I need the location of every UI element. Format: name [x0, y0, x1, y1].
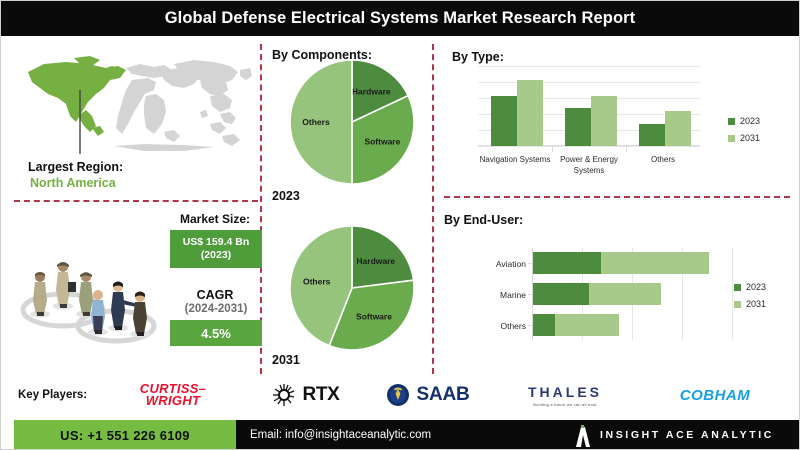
bar-segment-aviation-2023	[533, 252, 601, 274]
infographic-page: Global Defense Electrical Systems Market…	[0, 0, 800, 450]
logo-saab: SAAB	[368, 380, 488, 410]
legend-label: 2023	[740, 116, 760, 126]
people-illustration	[18, 238, 168, 346]
bar-others-2023	[639, 124, 665, 146]
section-heading-by-type: By Type:	[452, 50, 504, 64]
world-map	[14, 50, 254, 158]
key-players-label: Key Players:	[18, 389, 87, 401]
market-size-label: Market Size:	[172, 212, 258, 226]
pie-label-others: Others	[303, 276, 331, 286]
bar-row-others	[533, 314, 733, 336]
bar-row-marine	[533, 283, 733, 305]
thales-wordmark: THALES	[528, 384, 602, 400]
logo-cobham: COBHAM	[650, 380, 780, 410]
pie-label-software: Software	[364, 136, 400, 146]
pie-label-hardware: Hardware	[356, 256, 395, 266]
thales-tagline: Building a future we can all trust	[533, 402, 597, 407]
curtiss-wright-line2: WRIGHT	[140, 395, 206, 407]
cobham-wordmark: COBHAM	[680, 387, 751, 404]
header-bar: Global Defense Electrical Systems Market…	[30, 0, 770, 36]
axis-tick	[528, 263, 532, 264]
axis-tick	[528, 325, 532, 326]
footer-email-text: Email: info@insightaceanalytic.com	[250, 429, 431, 441]
market-size-value: US$ 159.4 Bn	[183, 236, 250, 249]
cagr-box: 4.5%	[170, 320, 262, 346]
pie-year-2023: 2023	[272, 189, 300, 203]
by-end-user-legend: 20232031	[734, 282, 766, 316]
logo-thales: THALES Building a future we can all trus…	[492, 380, 638, 410]
pie-label-hardware: Hardware	[352, 87, 391, 97]
bar-segment-others-2031	[555, 314, 619, 336]
saab-wordmark: SAAB	[416, 384, 469, 406]
legend-swatch	[728, 118, 735, 125]
map-north-america-highlight	[28, 56, 126, 136]
gridline	[478, 82, 700, 83]
bar-segment-marine-2031	[589, 283, 661, 305]
legend-item-2023: 2023	[728, 116, 760, 126]
cagr-years: (2024-2031)	[170, 303, 262, 315]
gridline	[478, 66, 700, 67]
bar-power-energy-systems-2031	[591, 96, 617, 146]
legend-item-2031: 2031	[734, 299, 766, 309]
bar-power-energy-systems-2023	[565, 108, 591, 146]
legend-swatch	[734, 301, 741, 308]
legend-swatch	[734, 284, 741, 291]
footer-brand: INSIGHT ACE ANALYTIC	[556, 420, 800, 450]
legend-item-2023: 2023	[734, 282, 766, 292]
largest-region-label: Largest Region:	[28, 160, 123, 174]
x-axis-label: Navigation Systems	[478, 154, 552, 165]
axis-tick	[528, 294, 532, 295]
gridline	[478, 146, 700, 147]
legend-label: 2031	[746, 299, 766, 309]
by-type-legend: 20232031	[728, 116, 760, 150]
bar-others-2031	[665, 111, 691, 146]
footer-phone[interactable]: US: +1 551 226 6109	[14, 420, 236, 450]
map-other-regions	[114, 60, 252, 151]
x-axis-label: Others	[626, 154, 700, 165]
y-axis-label: Others	[464, 321, 526, 331]
saab-crest-icon	[386, 383, 410, 407]
bar-row-aviation	[533, 252, 733, 274]
footer-phone-text: US: +1 551 226 6109	[60, 428, 190, 443]
y-axis-label: Aviation	[464, 259, 526, 269]
largest-region-value: North America	[30, 176, 116, 190]
rtx-wordmark: RTX	[302, 384, 339, 406]
insightace-logo-icon	[574, 425, 590, 445]
pie-label-software: Software	[356, 311, 392, 321]
legend-swatch	[728, 135, 735, 142]
header-cap-left	[0, 0, 30, 36]
y-axis-label: Marine	[464, 290, 526, 300]
divider-left-horizontal	[14, 200, 258, 202]
market-size-box: US$ 159.4 Bn (2023)	[170, 230, 262, 268]
footer-brand-text: INSIGHT ACE ANALYTIC	[600, 429, 774, 441]
legend-label: 2031	[740, 133, 760, 143]
bar-navigation-systems-2031	[517, 80, 543, 146]
legend-item-2031: 2031	[728, 133, 760, 143]
by-end-user-chart: AviationMarineOthers	[532, 248, 732, 340]
pie-chart-2031: HardwareSoftwareOthers	[288, 224, 418, 357]
logo-curtiss-wright: CURTISS– WRIGHT	[118, 380, 228, 410]
bar-segment-others-2023	[533, 314, 555, 336]
pie-chart-2023: HardwareSoftwareOthers	[288, 58, 418, 191]
logo-rtx: RTX	[246, 380, 366, 410]
bar-navigation-systems-2023	[491, 96, 517, 146]
by-type-chart: Navigation SystemsPower & Energy Systems…	[478, 66, 700, 146]
section-heading-by-end-user: By End-User:	[444, 213, 523, 227]
axis-tick	[626, 146, 627, 152]
pie-label-others: Others	[302, 117, 330, 127]
rtx-sunburst-icon	[272, 383, 296, 407]
axis-tick	[552, 146, 553, 152]
footer-email[interactable]: Email: info@insightaceanalytic.com	[236, 420, 556, 450]
cagr-value: 4.5%	[201, 326, 231, 341]
bar-segment-marine-2023	[533, 283, 589, 305]
legend-label: 2023	[746, 282, 766, 292]
bar-segment-aviation-2031	[601, 252, 709, 274]
market-size-year: (2023)	[201, 249, 231, 262]
divider-vertical-2	[432, 44, 434, 374]
header-cap-right	[770, 0, 800, 36]
page-title: Global Defense Electrical Systems Market…	[165, 9, 636, 28]
pie-year-2031: 2031	[272, 353, 300, 367]
x-axis-label: Power & Energy Systems	[552, 154, 626, 176]
cagr-label: CAGR	[172, 288, 258, 302]
divider-right-horizontal	[444, 196, 790, 198]
